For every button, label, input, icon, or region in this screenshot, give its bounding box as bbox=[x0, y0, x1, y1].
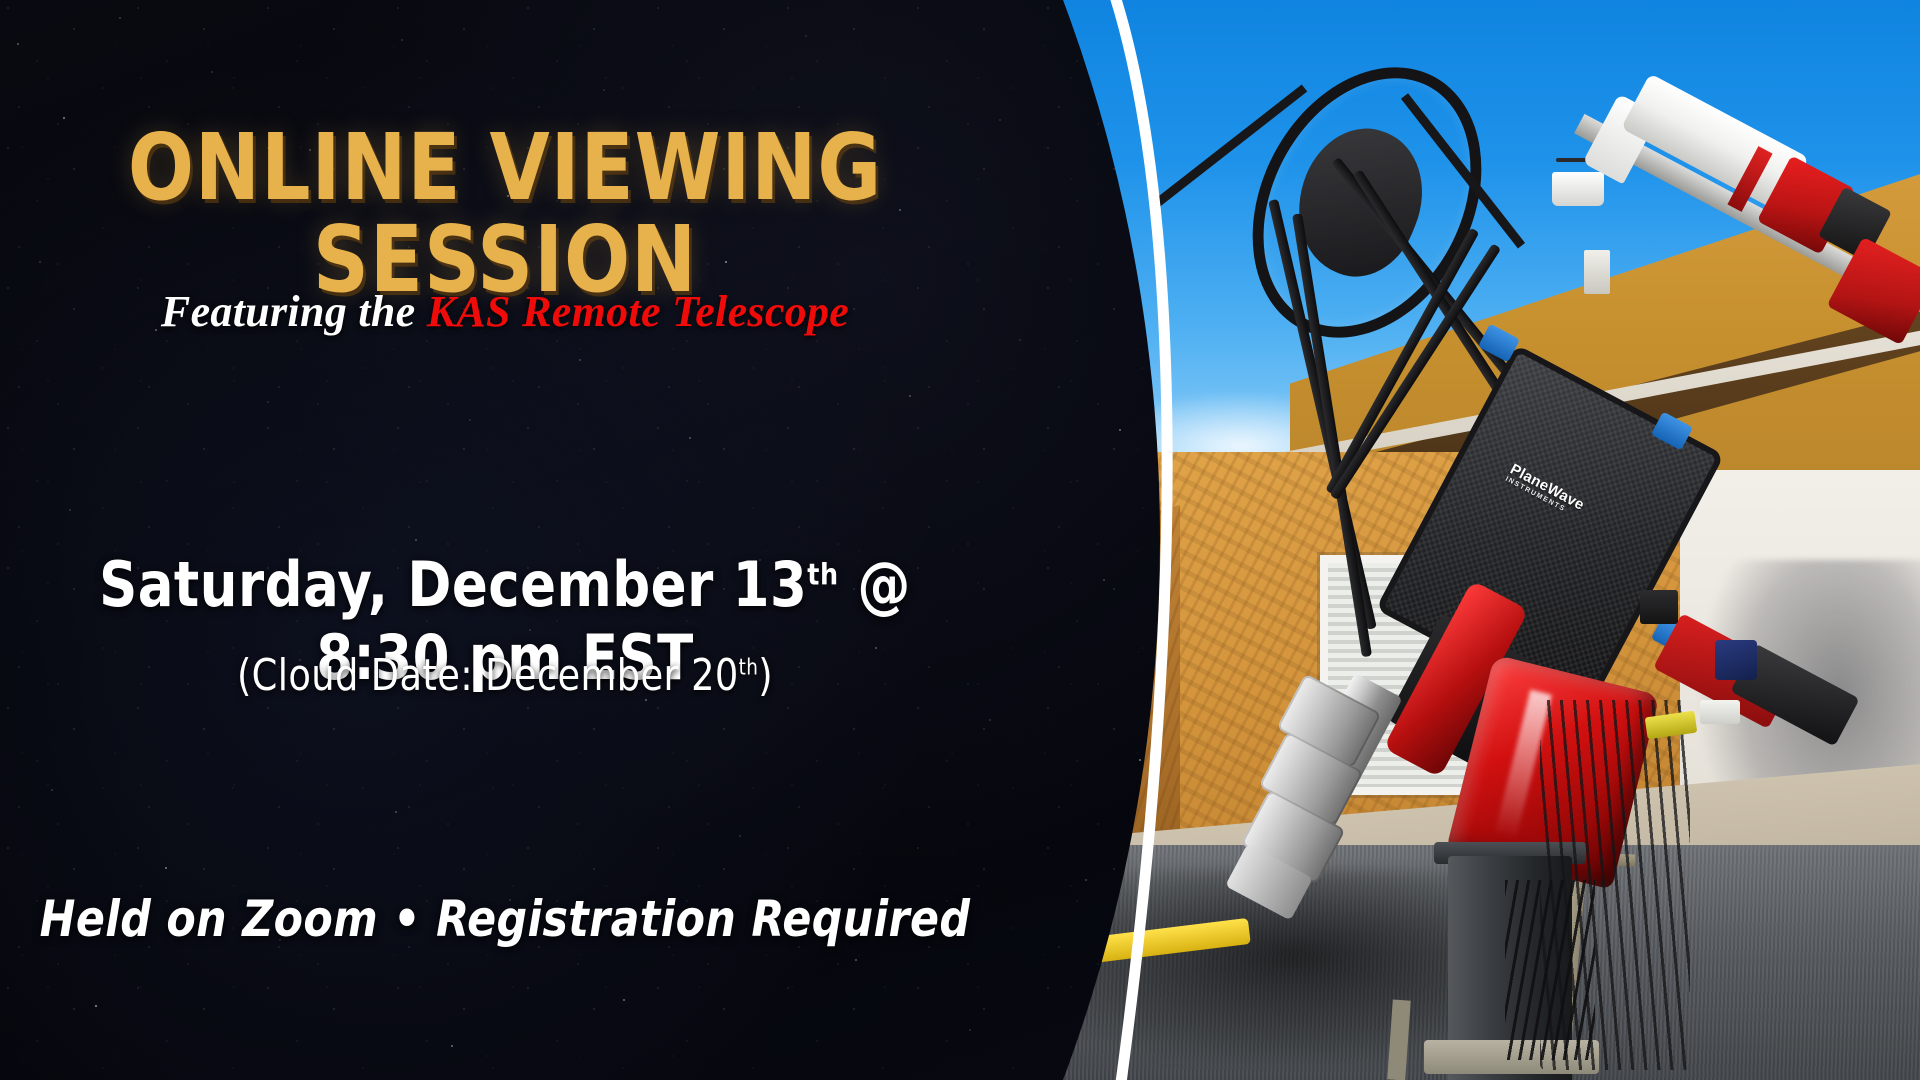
cloud-date-ordinal: th bbox=[739, 655, 759, 680]
white-junction-box bbox=[1700, 700, 1740, 724]
cloud-date: (Cloud Date: December 20th) bbox=[35, 650, 974, 701]
cloud-date-suffix: ) bbox=[758, 650, 773, 701]
poster-text-content: ONLINE VIEWING SESSION Featuring the KAS… bbox=[0, 0, 1120, 1080]
cable-bundle-lower bbox=[1505, 880, 1595, 1060]
cloud-date-prefix: (Cloud Date: December 20 bbox=[237, 650, 739, 701]
electrical-panel bbox=[1584, 250, 1610, 294]
page-title: ONLINE VIEWING SESSION bbox=[30, 122, 979, 306]
event-poster: PlaneWave INSTRUMENTS ONLINE V bbox=[0, 0, 1920, 1080]
event-date-ordinal: th bbox=[807, 557, 838, 592]
blue-control-box bbox=[1715, 640, 1757, 680]
subtitle-prefix: Featuring the bbox=[161, 287, 427, 336]
power-outlet bbox=[1640, 590, 1678, 624]
registration-note: Held on Zoom • Registration Required bbox=[25, 890, 985, 948]
subtitle-highlight: KAS Remote Telescope bbox=[427, 287, 849, 336]
subtitle: Featuring the KAS Remote Telescope bbox=[0, 286, 1010, 337]
weather-station bbox=[1552, 172, 1604, 206]
event-date-prefix: Saturday, December 13 bbox=[99, 548, 807, 621]
